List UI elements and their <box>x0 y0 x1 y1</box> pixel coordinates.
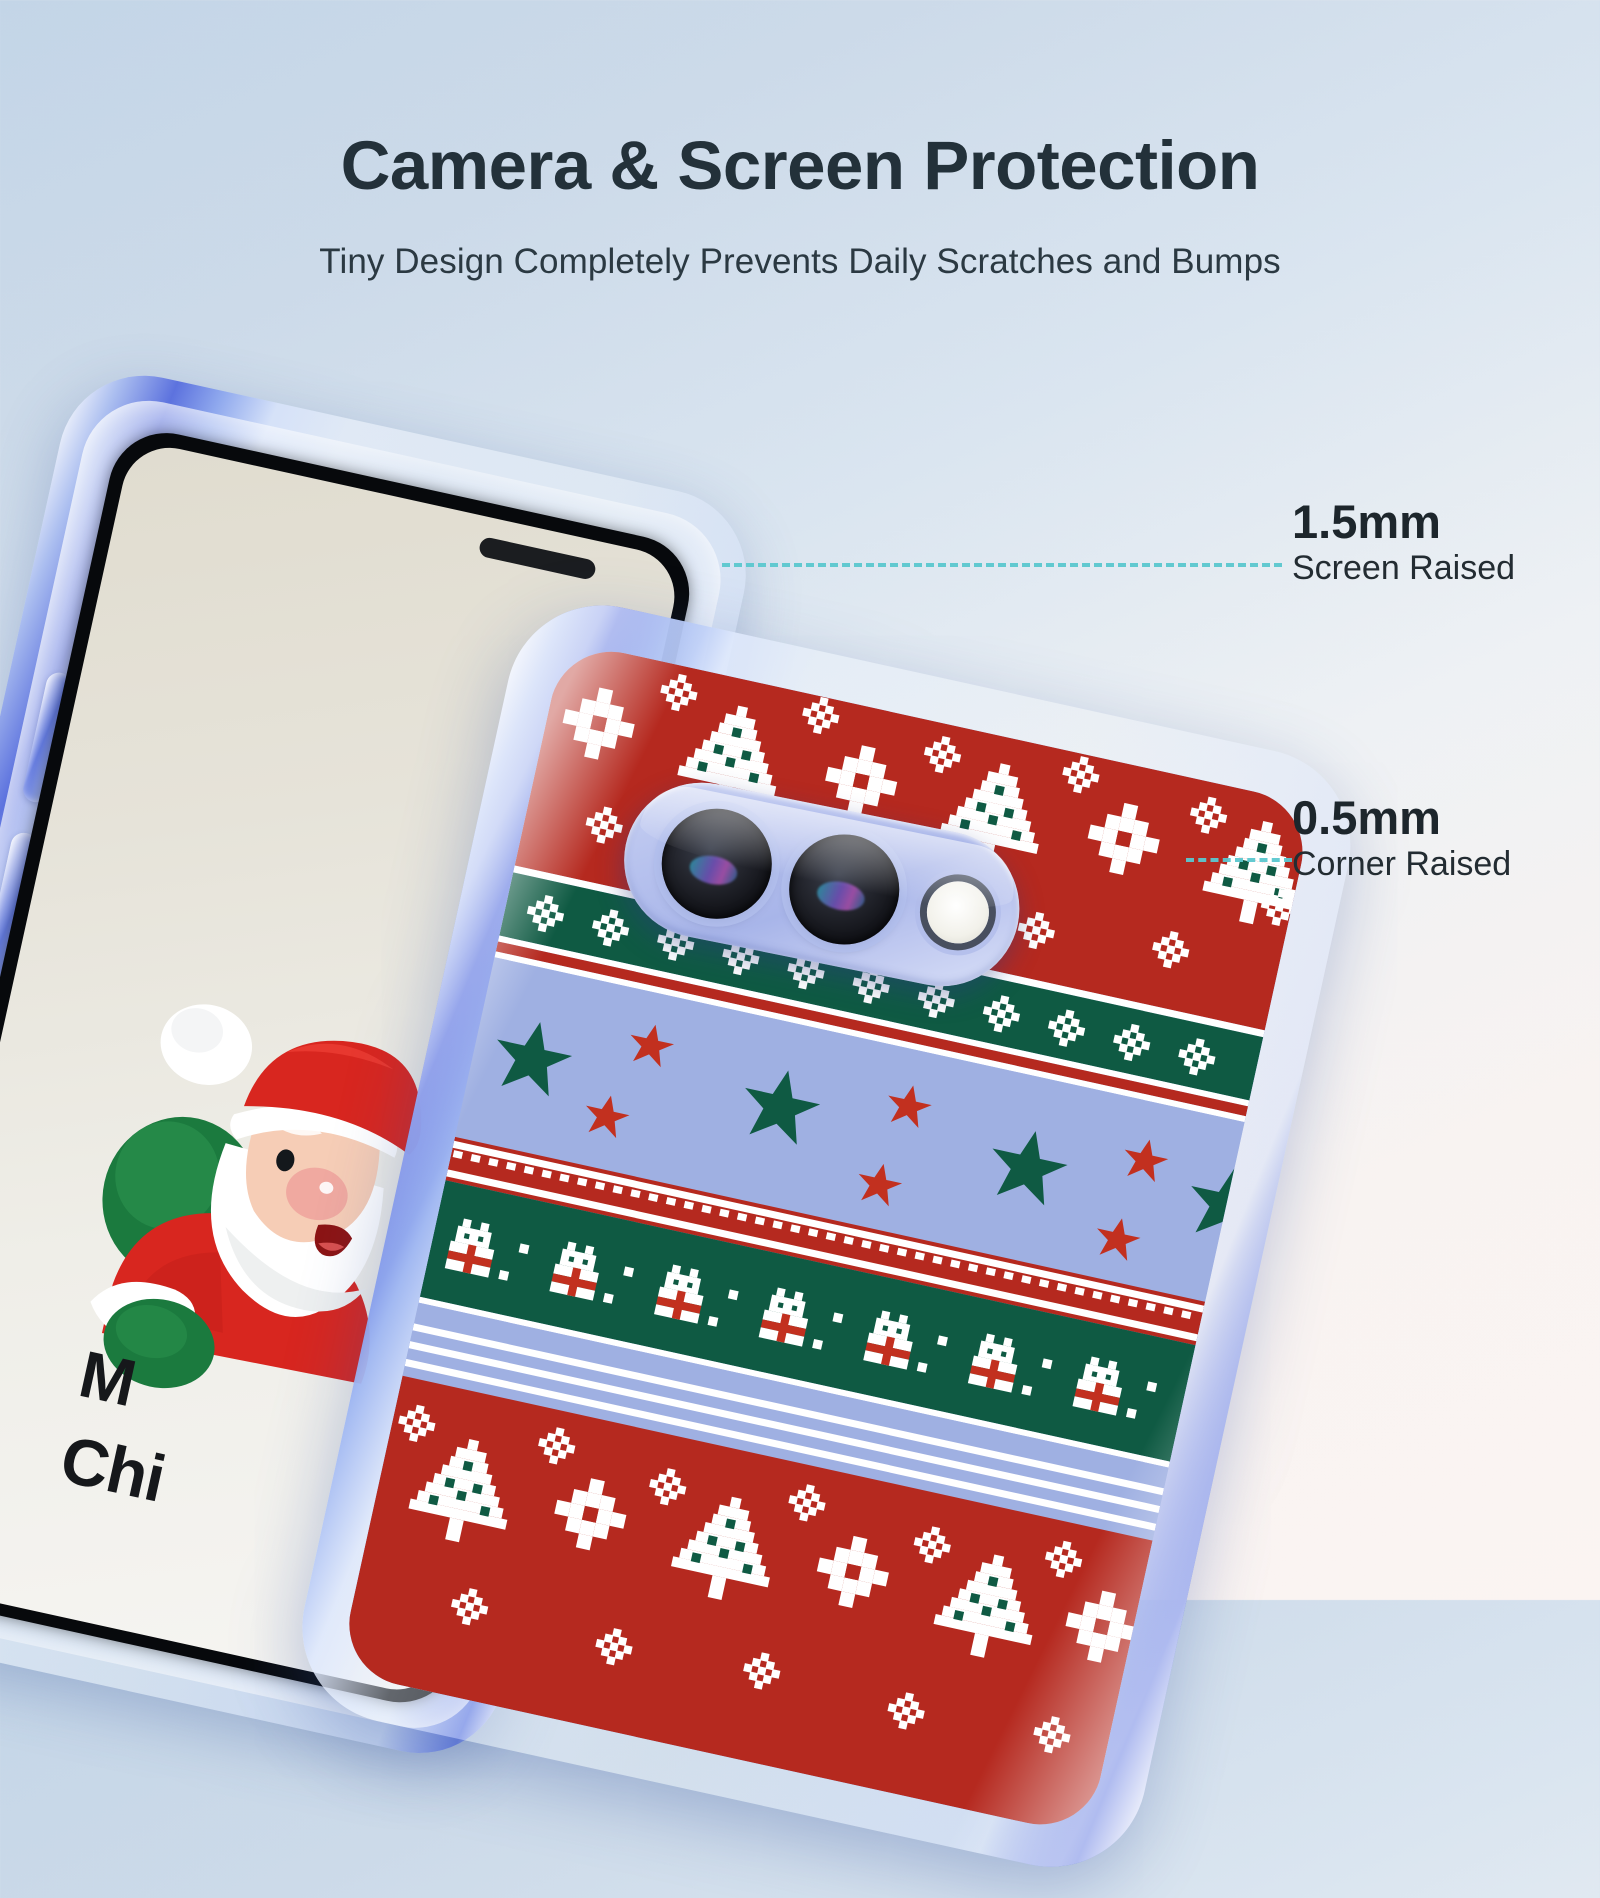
product-image-stage: Camera & Screen Protection Tiny Design C… <box>0 0 1600 1600</box>
page-title: Camera & Screen Protection <box>0 126 1600 205</box>
camera-lens-main <box>652 798 782 928</box>
page-subtitle: Tiny Design Completely Prevents Daily Sc… <box>0 242 1600 282</box>
corner-raised-value: 0.5mm <box>1292 793 1592 843</box>
screen-raised-label: Screen Raised <box>1292 547 1592 590</box>
lens-flare-icon <box>687 852 740 890</box>
corner-raised-leader-line <box>1186 858 1292 862</box>
camera-flash <box>922 875 995 948</box>
screen-raised-value: 1.5mm <box>1292 497 1592 547</box>
callout-corner-raised: 0.5mm Corner Raised <box>1292 793 1592 885</box>
corner-raised-label: Corner Raised <box>1292 843 1592 886</box>
screen-raised-leader-line <box>722 563 1282 567</box>
lens-flare-icon <box>814 877 867 915</box>
camera-lens-ultrawide <box>780 824 910 954</box>
callout-screen-raised: 1.5mm Screen Raised <box>1292 497 1592 589</box>
